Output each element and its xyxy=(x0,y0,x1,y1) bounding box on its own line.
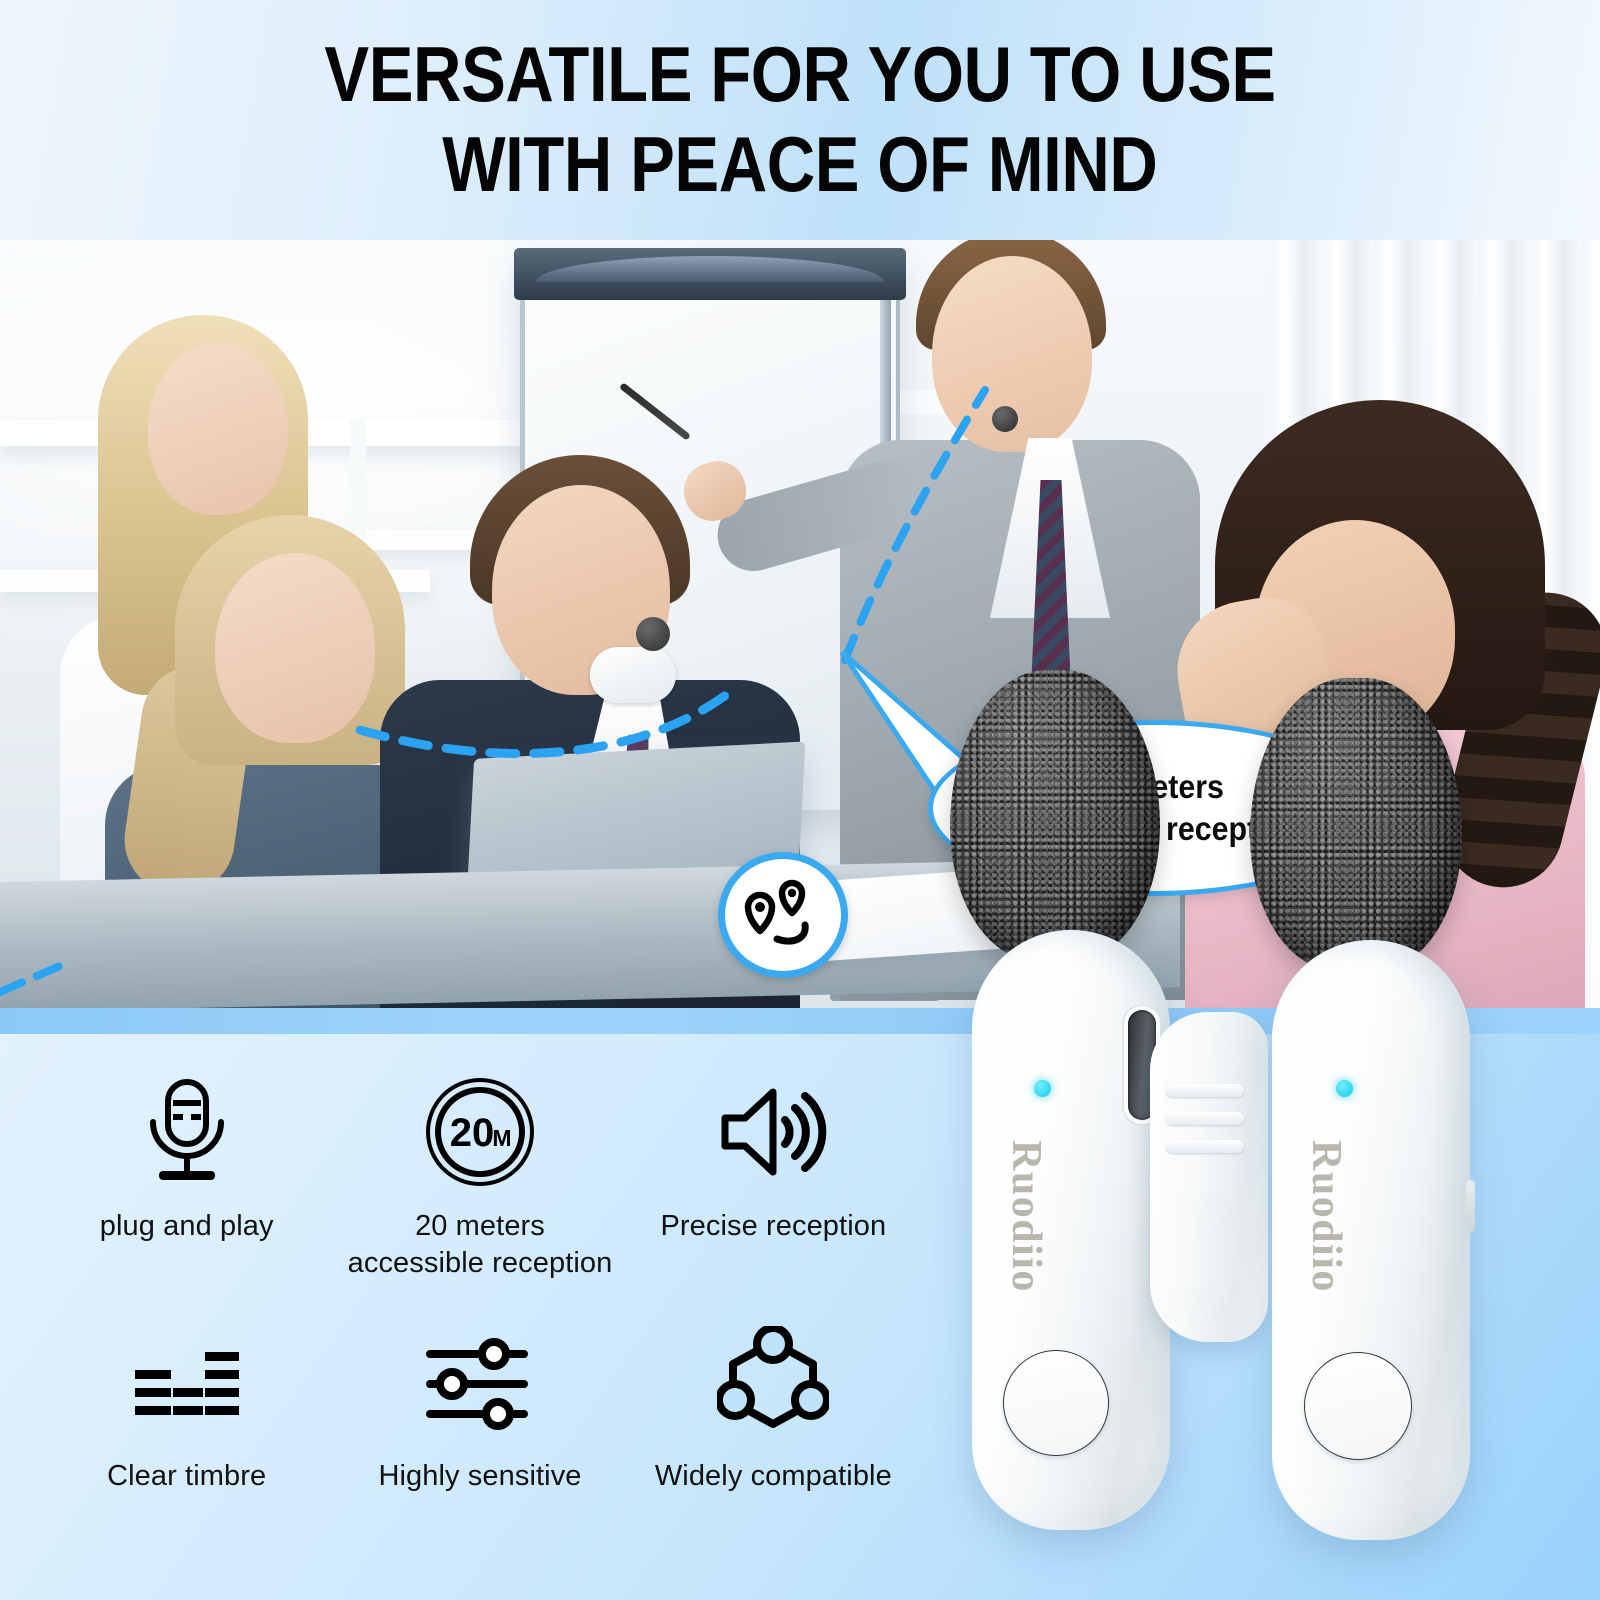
feature-label: Widely compatible xyxy=(655,1458,892,1495)
mic-right-side-notch xyxy=(1466,1180,1475,1232)
speaker-waves-icon xyxy=(717,1072,829,1192)
mic-left-power-button[interactable] xyxy=(1003,1350,1109,1456)
hex-network-icon xyxy=(717,1322,829,1442)
feature-label-line2: accessible reception xyxy=(348,1247,613,1279)
mic-right-led-indicator xyxy=(1336,1080,1353,1097)
mic-right-power-button[interactable] xyxy=(1304,1352,1412,1460)
feature-label-line1: 20 meters xyxy=(415,1210,545,1242)
mic-left-back-clip xyxy=(1150,1012,1268,1342)
twenty-meter-icon: 20 M xyxy=(422,1072,538,1192)
headline-banner: VERSATILE FOR YOU TO USE WITH PEACE OF M… xyxy=(0,0,1600,240)
clip-ridge-1 xyxy=(1166,1084,1244,1097)
feature-highly-sensitive: Highly sensitive xyxy=(333,1308,626,1558)
equalizer-icon xyxy=(131,1322,243,1442)
microphone-icon xyxy=(137,1072,237,1192)
product-marketing-page: VERSATILE FOR YOU TO USE WITH PEACE OF M… xyxy=(0,0,1600,1600)
twenty-meter-icon-number: 20 xyxy=(450,1111,495,1155)
feature-label: Precise reception xyxy=(660,1208,886,1245)
features-grid: plug and play 20 M 20 meters accessible … xyxy=(40,1058,920,1558)
feature-label: plug and play xyxy=(100,1208,274,1245)
feature-label-line1: Widely compatible xyxy=(655,1460,892,1492)
feature-label-line1: plug and play xyxy=(100,1210,274,1242)
mic-left-brand-text: Ruodiio xyxy=(1002,1140,1050,1293)
feature-label-line1: Clear timbre xyxy=(107,1460,266,1492)
mic-left-led-indicator xyxy=(1034,1080,1051,1097)
dashed-signal-line-left xyxy=(360,692,730,754)
feature-label: 20 meters accessible reception xyxy=(348,1208,613,1281)
dashed-signal-line-right xyxy=(845,390,985,660)
feature-twenty-meters: 20 M 20 meters accessible reception xyxy=(333,1058,626,1308)
headline-line-2: WITH PEACE OF MIND xyxy=(442,125,1157,205)
feature-label: Clear timbre xyxy=(107,1458,266,1495)
headline-line-1: VERSATILE FOR YOU TO USE xyxy=(324,35,1275,115)
sliders-icon xyxy=(424,1322,536,1442)
feature-widely-compatible: Widely compatible xyxy=(627,1308,920,1558)
feature-precise-reception: Precise reception xyxy=(627,1058,920,1308)
feature-label-line1: Highly sensitive xyxy=(378,1460,581,1492)
product-microphones: Ruodiio Ruodiio xyxy=(900,640,1600,1600)
mic-right-brand-text: Ruodiio xyxy=(1302,1140,1350,1293)
feature-clear-timbre: Clear timbre xyxy=(40,1308,333,1558)
location-pins-icon xyxy=(740,877,826,953)
feature-label-line1: Precise reception xyxy=(660,1210,886,1242)
location-badge xyxy=(718,852,848,978)
mic-right-foam-windscreen xyxy=(1250,678,1462,970)
feature-plug-and-play: plug and play xyxy=(40,1058,333,1308)
mic-left-foam-windscreen xyxy=(950,670,1160,960)
clip-ridge-3 xyxy=(1166,1140,1244,1153)
feature-label: Highly sensitive xyxy=(378,1458,581,1495)
twenty-meter-icon-unit: M xyxy=(492,1125,511,1151)
clip-ridge-2 xyxy=(1166,1112,1244,1125)
dashed-signal-line-tail xyxy=(0,966,60,992)
